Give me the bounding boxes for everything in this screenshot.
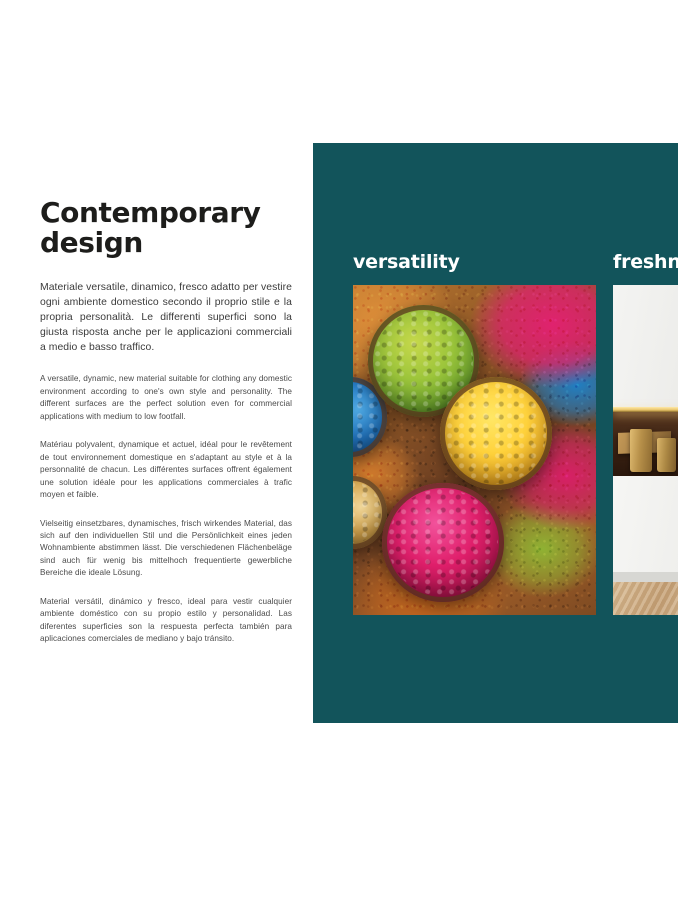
body-paragraph-german: Vielseitig einsetzbares, dynamisches, fr… (40, 518, 292, 580)
brass-canister-tall (630, 429, 652, 472)
article-text-column: Contemporary design Materiale versatile,… (40, 198, 292, 646)
under-shelf-led-strip (613, 407, 678, 412)
teal-gallery-panel: versatility freshness (313, 143, 678, 723)
body-paragraph-french: Matériau polyvalent, dynamique et actuel… (40, 439, 292, 501)
cabinet-plinth (613, 572, 678, 582)
gallery-card-heading-versatility: versatility (353, 251, 596, 273)
modern-kitchen-photo (613, 285, 678, 615)
gallery-row: versatility freshness (353, 251, 678, 615)
kitchen-upper-cabinets (613, 285, 678, 407)
brass-canister-medium (657, 438, 676, 473)
gallery-card-freshness[interactable]: freshness (613, 251, 678, 615)
coloured-pigment-powders-photo (353, 285, 596, 615)
kitchen-lower-cabinets (613, 476, 678, 572)
page-title: Contemporary design (40, 198, 270, 258)
lead-paragraph-italian: Materiale versatile, dinamico, fresco ad… (40, 280, 292, 355)
yellow-pigment-bowl (440, 377, 552, 489)
gallery-card-versatility[interactable]: versatility (353, 251, 596, 615)
wood-floor (613, 582, 678, 615)
kitchen-wood-shelf (613, 407, 678, 476)
kitchen-scene (613, 285, 678, 615)
gallery-card-heading-freshness: freshness (613, 251, 678, 273)
pink-pigment-bowl (382, 483, 504, 602)
body-paragraph-spanish: Material versátil, dinámico y fresco, id… (40, 596, 292, 646)
body-paragraph-english: A versatile, dynamic, new material suita… (40, 373, 292, 423)
